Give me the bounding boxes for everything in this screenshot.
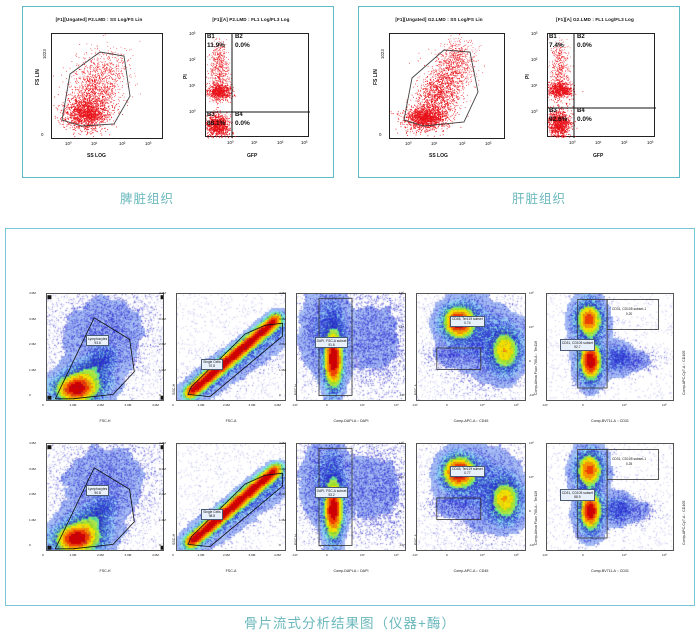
gate-value: 0.20	[612, 312, 646, 316]
x-axis-label: FSC-H	[46, 569, 164, 573]
x-tick: -10³	[542, 403, 548, 407]
x-tick: 0	[42, 553, 44, 557]
y-tick: 0	[529, 359, 531, 363]
quad-b3-label: B3	[207, 112, 215, 118]
x-tick: 1.0M	[70, 403, 77, 407]
gate-overlay	[177, 294, 286, 401]
x-tick-3: 10³	[485, 141, 491, 146]
gate-label: CD45, Ter119 subset0.74	[450, 316, 485, 327]
y-tick: 0	[159, 543, 161, 547]
x-tick-0: 10⁰	[405, 141, 412, 147]
x-axis-label: FSC-A	[176, 419, 286, 423]
x-tick: -10³	[292, 403, 298, 407]
top-panel-row: [F1][Ungated] P2.LMD : SS Log/FS Lin FS …	[0, 6, 700, 186]
y-tick: 10⁴	[529, 475, 534, 479]
gate-label: CD31, CD105 subset92.7	[560, 339, 595, 350]
gate-name: CD31, CD105 subset-1	[612, 457, 646, 461]
fc-plot-r2-c3: DAPI, FSC-A subset93.2-10³010³10⁴01.0M2.…	[278, 439, 410, 573]
x-axis-label: SS LOG	[429, 153, 448, 159]
quad-b1-label: B1	[549, 34, 557, 40]
y-tick: 1.0M	[159, 368, 166, 372]
y-tick: 4.0M	[159, 441, 166, 445]
y-tick: 3.0M	[29, 317, 36, 321]
gate-overlay	[47, 444, 164, 551]
y-tick: 0	[399, 359, 401, 363]
y-tick-max: 1023	[380, 49, 385, 59]
fc-plot-r1-c1: Lymphocytes93.601.0M2.0M3.0M4.0M01.0M2.0…	[28, 289, 168, 423]
y-tick: -10³	[399, 393, 405, 397]
plot-area: DAPI, FSC-A subset91.6	[296, 293, 406, 401]
y-tick: 0	[279, 393, 281, 397]
y-tick: -10³	[399, 543, 405, 547]
x-tick: 10⁵	[662, 403, 667, 407]
gate-overlay	[417, 444, 526, 551]
x-axis-label: GFP	[593, 153, 603, 159]
y-axis-label: FS LIN	[373, 69, 379, 85]
plot-area: Single Cells97.8	[176, 293, 286, 401]
caption-bone-chip: 骨片流式分析结果图（仪器+酶）	[0, 612, 700, 632]
fc-plot-r1-c4: CD45, Ter119 subset0.74-10³010⁴10⁵-10³01…	[398, 289, 530, 423]
caption-liver: 肝脏组织	[512, 188, 566, 207]
x-axis-label: GFP	[247, 153, 257, 159]
x-tick: 0	[446, 553, 448, 557]
y-tick: 0	[399, 509, 401, 513]
x-tick-2: 10²	[277, 140, 283, 145]
y-tick: 0	[279, 543, 281, 547]
gate-label-2: CD31, CD105 subset-10.20	[611, 307, 647, 316]
caption-spleen: 脾脏组织	[120, 188, 174, 207]
y-tick-2: 10²	[531, 57, 537, 62]
y-tick: 3.0M	[279, 317, 286, 321]
y-tick: 10⁴	[529, 325, 534, 329]
y-tick: 10⁴	[399, 325, 404, 329]
y-tick: 4.0M	[159, 291, 166, 295]
gate-name: CD31, CD105 subset-1	[612, 307, 646, 311]
x-tick: 10³	[360, 403, 364, 407]
x-tick-0: 10⁰	[227, 140, 234, 146]
plot-title: [F1][Ungated] P2.LMD : SS Log/FS Lin	[29, 17, 169, 22]
x-axis-label: Comp-DAPI-A :: DAPI	[296, 419, 406, 423]
spleen-panel: [F1][Ungated] P2.LMD : SS Log/FS Lin FS …	[22, 6, 334, 178]
y-tick-1: 10¹	[189, 83, 195, 88]
quad-b2-value: 0.0%	[577, 42, 592, 49]
x-tick: 10³	[360, 553, 364, 557]
y-tick: 10⁴	[399, 475, 404, 479]
y-tick: 3.0M	[159, 317, 166, 321]
gate-value: 97.8	[203, 364, 220, 368]
x-tick-2: 10²	[621, 140, 627, 145]
quad-b2-label: B2	[235, 34, 243, 40]
quad-b1-label: B1	[207, 34, 215, 40]
gate-value: 88.9	[562, 495, 593, 499]
y-tick-1: 10¹	[531, 83, 537, 88]
plot-area: CD45, Ter119 subset0.74	[416, 293, 526, 401]
fc-plot-r2-c2: Single Cells98.801.0M2.0M3.0M4.0M01.0M2.…	[158, 439, 290, 573]
x-tick: -10³	[412, 403, 418, 407]
gate-value: 91.6	[317, 343, 347, 347]
plot-area: CD31, CD105 subset88.9CD31, CD105 subset…	[546, 443, 674, 551]
y-tick: 1.0M	[279, 368, 286, 372]
y-tick: 10⁵	[529, 441, 534, 445]
y-tick-max: 1023	[42, 49, 47, 59]
spleen-scatter-plot: [F1][Ungated] P2.LMD : SS Log/FS Lin FS …	[29, 17, 169, 167]
gate-overlay	[417, 294, 526, 401]
plot-area	[389, 33, 505, 139]
x-tick: 0	[42, 403, 44, 407]
y-tick: 1.0M	[29, 518, 36, 522]
x-tick: 0	[326, 403, 328, 407]
gate-value: 0.77	[452, 471, 483, 475]
gate-overlay	[297, 444, 406, 551]
y-tick: 2.0M	[279, 342, 286, 346]
y-tick: 3.0M	[29, 467, 36, 471]
fc-plot-r1-c3: DAPI, FSC-A subset91.6-10³010³10⁴01.0M2.…	[278, 289, 410, 423]
x-tick: -10³	[412, 553, 418, 557]
y-tick-min: 0	[41, 132, 43, 137]
gate-value: 98.8	[203, 514, 220, 518]
gate-value: 0.25	[612, 462, 646, 466]
x-axis-label: Comp-BV711-A :: CD31	[546, 569, 674, 573]
x-axis-label: FSC-A	[176, 569, 286, 573]
x-tick: 3.0M	[249, 403, 256, 407]
liver-panel: [F1][Ungated] G2.LMD : SS Log/FS Lin FS …	[358, 6, 680, 178]
x-tick-3: 10³	[301, 140, 307, 145]
quad-b2-label: B2	[577, 34, 585, 40]
x-tick-1: 10¹	[431, 141, 437, 146]
x-tick: -10³	[292, 553, 298, 557]
gate-label: Lymphocytes93.6	[86, 335, 109, 346]
liver-quadrant-plot: [F1][A] G2.LMD : FL1 Log/FL3 Log PI 10³ …	[517, 17, 673, 167]
plot-area: Lymphocytes90.8	[46, 443, 164, 551]
y-tick-0: 10⁰	[189, 109, 196, 115]
plot-title: [F1][A] G2.LMD : FL1 Log/FL3 Log	[517, 17, 673, 22]
x-tick: 2.0M	[97, 553, 104, 557]
x-tick: 2.0M	[223, 553, 230, 557]
y-tick: 0	[529, 509, 531, 513]
x-tick: 3.0M	[249, 553, 256, 557]
gate-label: Single Cells98.8	[201, 509, 222, 520]
fc-plot-r2-c5: CD31, CD105 subset88.9CD31, CD105 subset…	[528, 439, 678, 573]
y-tick: 1.0M	[29, 368, 36, 372]
x-axis-label: Comp-APC-A :: CD45	[416, 419, 526, 423]
spleen-quadrant-plot: [F1][A] P2.LMD : FL1 Log/FL3 Log PI 10³ …	[175, 17, 327, 167]
x-tick: 10⁵	[514, 403, 519, 407]
y-axis-label: Comp-APC-Cy7-A :: CD105	[682, 351, 686, 395]
gate-overlay	[47, 294, 164, 401]
quad-b4-label: B4	[577, 108, 585, 114]
quad-b2-value: 0.0%	[235, 42, 250, 49]
plot-area	[51, 33, 163, 139]
x-axis-label: SS LOG	[87, 153, 106, 159]
x-axis-label: Comp-APC-A :: CD45	[416, 569, 526, 573]
y-tick: 0	[159, 393, 161, 397]
plot-area: DAPI, FSC-A subset93.2	[296, 443, 406, 551]
x-tick-1: 10¹	[595, 140, 601, 145]
y-tick: 4.0M	[29, 441, 36, 445]
y-tick: -10³	[529, 393, 535, 397]
gate-label: Lymphocytes90.8	[86, 485, 109, 496]
y-tick-2: 10²	[189, 57, 195, 62]
gate-label: CD45, Ter119 subset0.77	[450, 466, 485, 477]
x-tick-1: 10¹	[251, 140, 257, 145]
y-axis-label: PI	[525, 74, 531, 79]
x-tick: 0	[326, 553, 328, 557]
x-tick: 1.0M	[198, 553, 205, 557]
x-tick-2: 10²	[119, 141, 125, 146]
x-tick-2: 10²	[459, 141, 465, 146]
x-tick: 1.0M	[198, 403, 205, 407]
y-axis-label: FS LIN	[35, 69, 41, 85]
x-tick: 10⁴	[622, 553, 627, 557]
x-tick: 0	[582, 403, 584, 407]
gate-label: DAPI, FSC-A subset93.2	[315, 487, 349, 498]
y-tick: 2.0M	[29, 492, 36, 496]
gate-value: 90.8	[88, 491, 107, 495]
event-dots	[391, 34, 486, 137]
y-axis-label: PI	[183, 74, 189, 79]
liver-scatter-plot: [F1][Ungated] G2.LMD : SS Log/FS Lin FS …	[367, 17, 511, 167]
quad-b4-value: 0.0%	[235, 120, 250, 127]
y-tick: 4.0M	[279, 291, 286, 295]
plot-title: [F1][Ungated] G2.LMD : SS Log/FS Lin	[367, 17, 511, 22]
y-tick: 10⁵	[529, 291, 534, 295]
fc-plot-r2-c1: Lymphocytes90.801.0M2.0M3.0M4.0M01.0M2.0…	[28, 439, 168, 573]
x-tick: 0	[172, 553, 174, 557]
y-tick: 1.0M	[159, 518, 166, 522]
gate-value: 93.6	[88, 341, 107, 345]
quad-b1-value: 7.4%	[549, 42, 564, 49]
quad-b4-label: B4	[235, 112, 243, 118]
gate-label-2: CD31, CD105 subset-10.25	[611, 457, 647, 466]
gate-overlay	[297, 294, 406, 401]
quad-b4-value: 0.0%	[577, 116, 592, 123]
gate-label: CD31, CD105 subset88.9	[560, 489, 595, 500]
gate-value: 0.74	[452, 321, 483, 325]
x-tick-3: 10³	[145, 141, 151, 146]
y-tick: 10⁵	[399, 291, 404, 295]
y-tick-min: 0	[379, 132, 381, 137]
y-tick: 3.0M	[279, 467, 286, 471]
y-tick-3: 10³	[531, 31, 537, 36]
x-tick: 10⁴	[480, 403, 485, 407]
x-tick: 3.0M	[125, 553, 132, 557]
x-tick: 10⁵	[514, 553, 519, 557]
y-tick: -10³	[529, 543, 535, 547]
x-tick: 0	[172, 403, 174, 407]
gate-label: Single Cells97.8	[201, 359, 222, 370]
plot-area: CD45, Ter119 subset0.77	[416, 443, 526, 551]
x-tick: 0	[582, 553, 584, 557]
y-tick: 1.0M	[279, 518, 286, 522]
fc-plot-r2-c4: CD45, Ter119 subset0.77-10³010⁴10⁵-10³01…	[398, 439, 530, 573]
top-caption-row: 脾脏组织 肝脏组织	[0, 188, 700, 214]
x-tick: 2.0M	[223, 403, 230, 407]
quad-b3-label: B3	[549, 108, 557, 114]
x-tick-3: 10³	[647, 140, 653, 145]
y-tick: 10⁵	[399, 441, 404, 445]
quad-b3-value: 92.6%	[549, 116, 567, 123]
plot-area: Lymphocytes93.6	[46, 293, 164, 401]
x-tick-0: 10⁰	[569, 140, 576, 146]
fc-plot-r1-c5: CD31, CD105 subset92.7CD31, CD105 subset…	[528, 289, 678, 423]
fc-plot-r1-c2: Single Cells97.801.0M2.0M3.0M4.0M01.0M2.…	[158, 289, 290, 423]
x-axis-label: FSC-H	[46, 419, 164, 423]
x-tick-0: 10⁰	[65, 141, 72, 147]
plot-title: [F1][A] P2.LMD : FL1 Log/FL3 Log	[175, 17, 327, 22]
x-tick: 2.0M	[97, 403, 104, 407]
gate-value: 92.7	[562, 345, 593, 349]
y-tick: 2.0M	[279, 492, 286, 496]
quad-b1-value: 11.9%	[207, 42, 225, 49]
y-tick-3: 10³	[189, 31, 195, 36]
x-tick: -10³	[542, 553, 548, 557]
bone-chip-panel: Lymphocytes93.601.0M2.0M3.0M4.0M01.0M2.0…	[5, 228, 695, 606]
x-tick: 3.0M	[125, 403, 132, 407]
y-tick: 3.0M	[159, 467, 166, 471]
y-tick: 4.0M	[29, 291, 36, 295]
x-tick: 10⁵	[662, 553, 667, 557]
x-tick-1: 10¹	[91, 141, 97, 146]
gate-value: 93.2	[317, 493, 347, 497]
y-tick: 0	[29, 393, 31, 397]
quad-b3-value: 88.1%	[207, 120, 225, 127]
y-tick: 2.0M	[159, 342, 166, 346]
y-tick: 2.0M	[29, 342, 36, 346]
plot-area: Single Cells98.8	[176, 443, 286, 551]
y-tick: 4.0M	[279, 441, 286, 445]
plot-area: CD31, CD105 subset92.7CD31, CD105 subset…	[546, 293, 674, 401]
y-tick: 0	[29, 543, 31, 547]
gate-label: DAPI, FSC-A subset91.6	[315, 337, 349, 348]
x-axis-label: Comp-BV711-A :: CD31	[546, 419, 674, 423]
y-tick: 2.0M	[159, 492, 166, 496]
gate-overlay	[177, 444, 286, 551]
x-axis-label: Comp-DAPI-A :: DAPI	[296, 569, 406, 573]
x-tick: 10⁴	[622, 403, 627, 407]
x-tick: 0	[446, 403, 448, 407]
y-axis-label: Comp-APC-Cy7-A :: CD105	[682, 501, 686, 545]
x-tick: 10⁴	[480, 553, 485, 557]
x-tick: 1.0M	[70, 553, 77, 557]
y-tick-0: 10⁰	[531, 109, 538, 115]
